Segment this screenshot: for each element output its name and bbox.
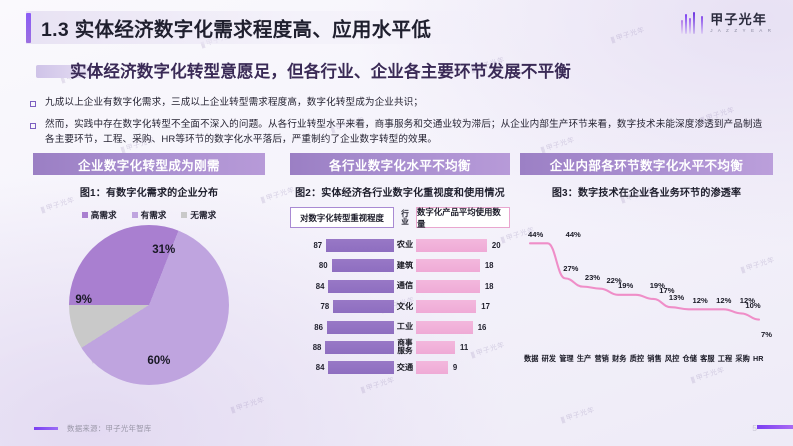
tornado-left-cell: 80 xyxy=(290,259,394,272)
x-axis-label: 管理 xyxy=(559,354,573,364)
x-axis-label: 仓储 xyxy=(683,354,697,364)
page-subtitle: 实体经济数字化转型意愿足，但各行业、企业各主要环节发展不平衡 xyxy=(70,58,571,82)
category-label: 商事服务 xyxy=(394,339,416,355)
line-path-svg xyxy=(520,203,773,378)
data-point-label: 13% xyxy=(669,293,684,302)
data-point-label: 10% xyxy=(745,301,760,310)
tornado-right-cell: 18 xyxy=(416,259,510,272)
logo-bars-icon xyxy=(681,12,703,34)
category-label: 建筑 xyxy=(394,262,416,270)
bar-right xyxy=(416,361,448,374)
category-label: 工业 xyxy=(394,323,416,331)
pie-label-high: 31% xyxy=(152,244,175,256)
bullet-list: 九成以上企业有数字化需求，三成以上企业转型需求程度高，数字化转型成为企业共识； … xyxy=(30,96,770,155)
bar-value-left: 86 xyxy=(314,323,323,332)
bar-right xyxy=(416,239,487,252)
list-item: 然而，实践中存在数字化转型不全面不深入的问题。从各行业转型水平来看，商事服务和交… xyxy=(30,118,770,148)
page-title-row: 1.3 实体经济数字化需求程度高、应用水平低 xyxy=(26,11,491,44)
source-dash-icon xyxy=(34,427,58,430)
legend-swatch xyxy=(132,212,138,218)
bullet-text: 九成以上企业有数字化需求，三成以上企业转型需求程度高，数字化转型成为企业共识； xyxy=(45,96,423,111)
bar-value-right: 16 xyxy=(478,323,487,332)
tornado-header-right: 数字化产品平均使用数量 xyxy=(416,207,510,228)
x-axis-label: 生产 xyxy=(577,354,591,364)
page-title: 1.3 实体经济数字化需求程度高、应用水平低 xyxy=(41,13,431,42)
table-row: 86 工业 16 xyxy=(290,319,510,336)
bar-left xyxy=(326,239,394,252)
tornado-right-cell: 17 xyxy=(416,300,510,313)
brand-logo: 甲子光年 J A Z Z Y E A R xyxy=(681,12,773,34)
bar-right xyxy=(416,321,473,334)
bar-left xyxy=(327,321,394,334)
bar-left xyxy=(328,361,394,374)
figure-caption: 图1：有数字化需求的企业分布 xyxy=(33,184,265,199)
pie-label-have: 60% xyxy=(147,355,170,367)
figure-caption: 图2：实体经济各行业数字化重视度和使用情况 xyxy=(290,184,510,199)
data-point-label: 12% xyxy=(693,296,708,305)
table-row: 78 文化 17 xyxy=(290,298,510,315)
legend-label: 无需求 xyxy=(190,209,216,221)
panel-header: 企业数字化转型成为刚需 xyxy=(33,153,265,175)
x-axis-label: 风控 xyxy=(665,354,679,364)
bar-value-right: 17 xyxy=(481,302,490,311)
x-axis-label: 数据 xyxy=(524,354,538,364)
bar-value-left: 80 xyxy=(319,261,328,270)
panel-industry-level: 各行业数字化水平不均衡 图2：实体经济各行业数字化重视度和使用情况 对数字化转型… xyxy=(290,153,510,380)
line-chart: 44%数据44%研发27%管理23%生产22%营销19%财务19%质控17%销售… xyxy=(520,203,773,378)
data-point-label: 27% xyxy=(563,264,578,273)
tornado-left-cell: 88 xyxy=(290,341,394,354)
tornado-left-cell: 86 xyxy=(290,321,394,334)
tornado-right-cell: 11 xyxy=(416,341,510,354)
table-row: 80 建筑 18 xyxy=(290,257,510,274)
bar-value-right: 11 xyxy=(460,343,468,352)
page-accent-bar xyxy=(757,425,793,430)
source-text: 数据来源：甲子光年智库 xyxy=(67,423,152,434)
x-axis-label: 销售 xyxy=(647,354,661,364)
bar-left xyxy=(333,300,394,313)
panel-header: 企业内部各环节数字化水平不均衡 xyxy=(520,153,773,175)
bar-value-right: 18 xyxy=(485,261,494,270)
tornado-left-cell: 84 xyxy=(290,361,394,374)
logo-text-en: J A Z Z Y E A R xyxy=(710,29,773,34)
data-point-label: 12% xyxy=(716,296,731,305)
bar-left xyxy=(328,280,394,293)
tornado-header-mid: 行业 xyxy=(396,207,414,228)
bullet-text: 然而，实践中存在数字化转型不全面不深入的问题。从各行业转型水平来看，商事服务和交… xyxy=(45,118,770,148)
category-label: 交通 xyxy=(394,364,416,372)
table-row: 87 农业 20 xyxy=(290,237,510,254)
data-point-label: 7% xyxy=(761,330,772,339)
legend-item: 有需求 xyxy=(132,209,167,221)
bar-right xyxy=(416,341,455,354)
pie-label-none: 9% xyxy=(75,294,92,306)
bar-value-right: 9 xyxy=(453,363,457,372)
legend-swatch xyxy=(181,212,187,218)
tornado-right-cell: 16 xyxy=(416,321,510,334)
source-note: 数据来源：甲子光年智库 xyxy=(34,423,152,434)
x-axis-label: 工程 xyxy=(718,354,732,364)
tornado-rows: 87 农业 20 80 建筑 18 84 通信 xyxy=(290,237,510,376)
data-point-label: 44% xyxy=(566,230,581,239)
tornado-right-cell: 9 xyxy=(416,361,510,374)
title-accent-bar xyxy=(26,13,31,43)
logo-text-cn: 甲子光年 xyxy=(710,13,773,26)
tornado-header-row: 对数字化转型重视程度 行业 数字化产品平均使用数量 xyxy=(290,207,510,228)
category-label: 文化 xyxy=(394,303,416,311)
data-point-label: 19% xyxy=(618,281,633,290)
category-label: 通信 xyxy=(394,282,416,290)
bar-right xyxy=(416,280,480,293)
legend-swatch xyxy=(82,212,88,218)
bar-right xyxy=(416,300,476,313)
x-axis-label: 客服 xyxy=(700,354,714,364)
bar-value-left: 78 xyxy=(320,302,329,311)
bar-value-right: 20 xyxy=(492,241,501,250)
x-axis-label: HR xyxy=(753,354,763,363)
tornado-left-cell: 84 xyxy=(290,280,394,293)
x-axis-label: 质控 xyxy=(630,354,644,364)
data-point-label: 23% xyxy=(585,273,600,282)
table-row: 84 通信 18 xyxy=(290,278,510,295)
bar-right xyxy=(416,259,480,272)
tornado-header-left: 对数字化转型重视程度 xyxy=(290,207,394,228)
tornado-left-cell: 78 xyxy=(290,300,394,313)
x-axis-label: 研发 xyxy=(542,354,556,364)
page-subtitle-row: 实体经济数字化转型意愿足，但各行业、企业各主要环节发展不平衡 xyxy=(30,56,571,84)
bar-left xyxy=(332,259,394,272)
legend-label: 有需求 xyxy=(141,209,167,221)
legend-item: 高需求 xyxy=(82,209,117,221)
x-axis-label: 财务 xyxy=(612,354,626,364)
category-label: 农业 xyxy=(394,241,416,249)
bar-value-right: 18 xyxy=(485,282,494,291)
table-row: 84 交通 9 xyxy=(290,359,510,376)
x-axis-label: 营销 xyxy=(594,354,608,364)
panel-internal-penetration: 企业内部各环节数字化水平不均衡 图3：数字技术在企业各业务环节的渗透率 44%数… xyxy=(520,153,773,378)
x-axis-label: 采购 xyxy=(735,354,749,364)
table-row: 88 商事服务 11 xyxy=(290,339,510,356)
legend-item: 无需求 xyxy=(181,209,216,221)
bar-value-left: 84 xyxy=(316,363,325,372)
legend-label: 高需求 xyxy=(91,209,117,221)
panel-enterprise-demand: 企业数字化转型成为刚需 图1：有数字化需求的企业分布 高需求 有需求 无需求 3… xyxy=(33,153,265,385)
tornado-left-cell: 87 xyxy=(290,239,394,252)
square-bullet-icon xyxy=(30,101,36,107)
figure-caption: 图3：数字技术在企业各业务环节的渗透率 xyxy=(520,184,773,199)
tornado-right-cell: 18 xyxy=(416,280,510,293)
data-point-label: 44% xyxy=(528,230,543,239)
bar-value-left: 88 xyxy=(313,343,322,352)
tornado-right-cell: 20 xyxy=(416,239,510,252)
panel-header: 各行业数字化水平不均衡 xyxy=(290,153,510,175)
bar-value-left: 87 xyxy=(313,241,322,250)
pie-chart: 31% 60% 9% xyxy=(69,225,229,385)
bar-value-left: 84 xyxy=(316,282,325,291)
list-item: 九成以上企业有数字化需求，三成以上企业转型需求程度高，数字化转型成为企业共识； xyxy=(30,96,770,111)
pie-legend: 高需求 有需求 无需求 xyxy=(33,209,265,221)
square-bullet-icon xyxy=(30,123,36,129)
bar-left xyxy=(325,341,394,354)
